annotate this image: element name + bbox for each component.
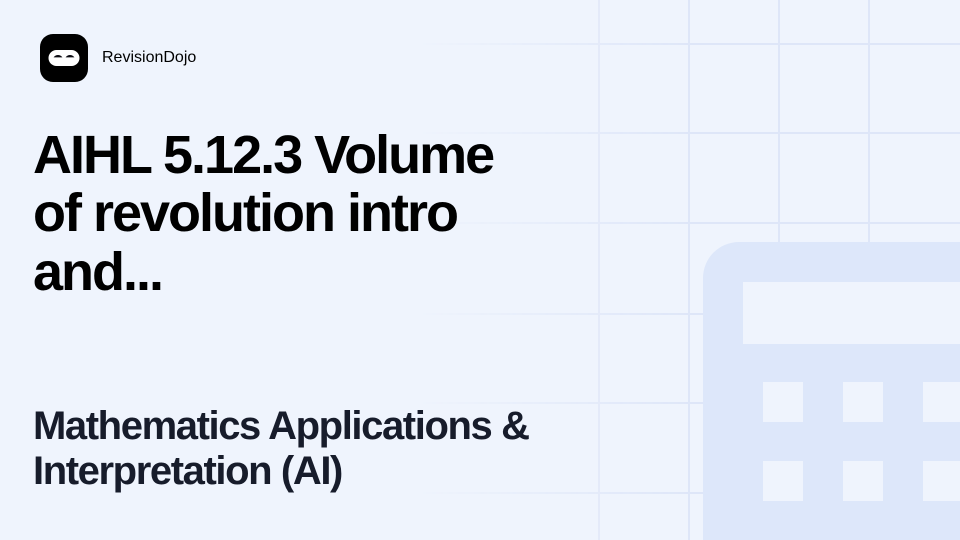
subject-label: Mathematics Applications & Interpretatio… [33, 404, 693, 494]
page-title-line: AIHL 5.12.3 Volume [33, 126, 633, 184]
course-title-card: RevisionDojo AIHL 5.12.3 Volume of revol… [0, 0, 960, 540]
page-title-line: and... [33, 243, 633, 301]
page-title: AIHL 5.12.3 Volume of revolution intro a… [33, 126, 633, 301]
subject-label-line: Mathematics Applications & [33, 404, 693, 449]
subject-label-line: Interpretation (AI) [33, 449, 693, 494]
page-title-line: of revolution intro [33, 184, 633, 242]
brand-lockup: RevisionDojo [40, 34, 920, 82]
brand-name: RevisionDojo [102, 49, 196, 67]
card-content: RevisionDojo AIHL 5.12.3 Volume of revol… [0, 0, 960, 540]
ninja-mask-icon [40, 34, 88, 82]
